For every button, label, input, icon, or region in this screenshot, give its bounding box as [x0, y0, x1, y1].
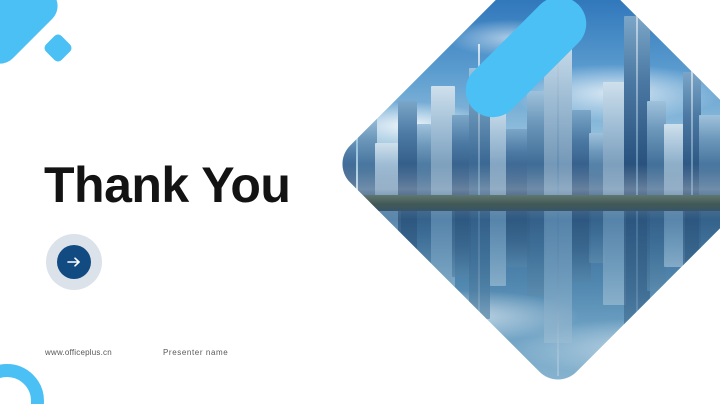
- footer-website-url[interactable]: www.officeplus.cn: [45, 348, 112, 357]
- rounded-square-small-icon: [42, 32, 73, 63]
- ring-arc-icon: [0, 364, 44, 404]
- arrow-right-icon: [66, 255, 82, 269]
- page-title: Thank You: [44, 160, 290, 210]
- next-arrow-button-core[interactable]: [57, 245, 91, 279]
- haze-layer: [332, 164, 720, 220]
- thank-you-slide: Thank You www.officeplus.cn Presenter na…: [0, 0, 720, 404]
- next-arrow-button[interactable]: [46, 234, 102, 290]
- footer-presenter-name: Presenter name: [163, 348, 228, 357]
